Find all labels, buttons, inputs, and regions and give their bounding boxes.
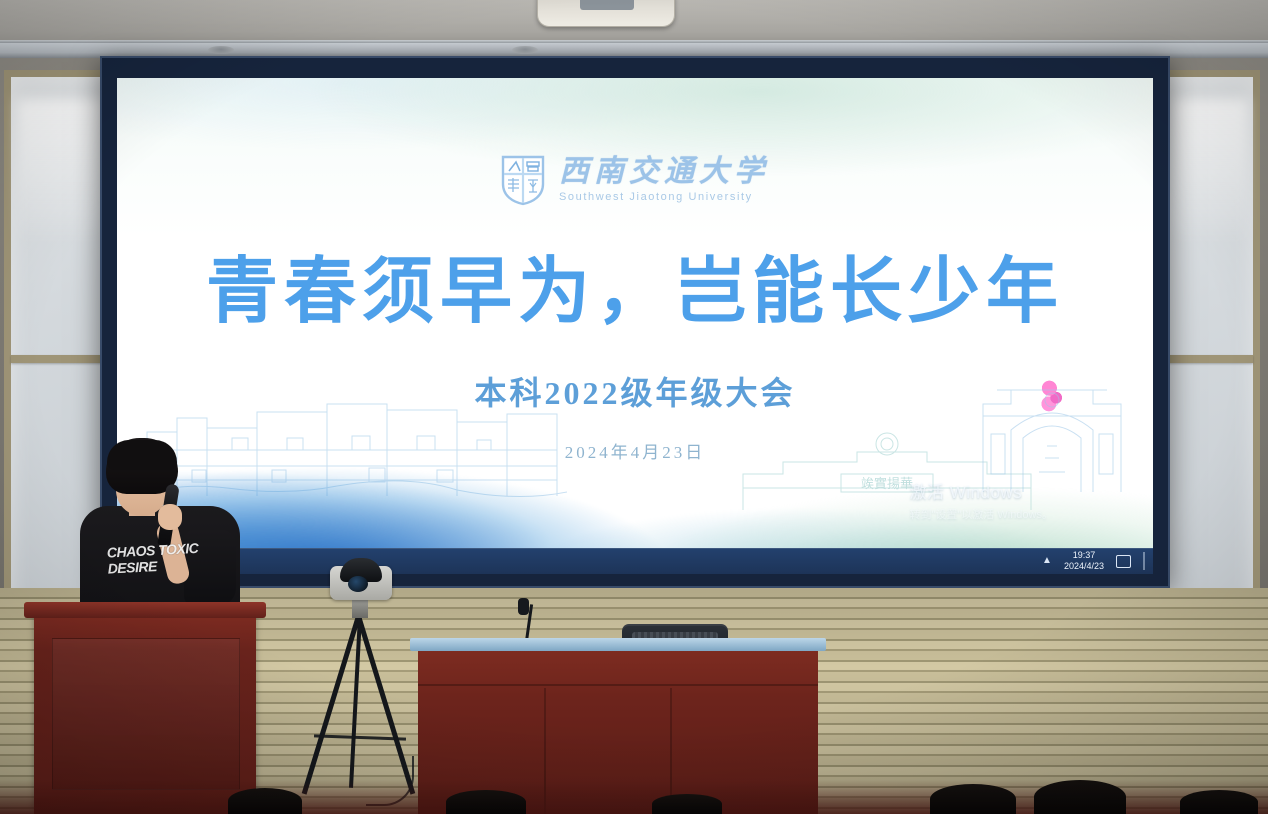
- whiteboard-glare-right: [1172, 99, 1248, 245]
- camera-lens-icon: [348, 576, 368, 592]
- whiteboard-glare-left: [17, 99, 105, 245]
- ceiling-seam: [0, 40, 1268, 43]
- university-shield-icon: [501, 154, 545, 206]
- auditorium-scene: 西南交通大学 Southwest Jiaotong University 青春须…: [0, 0, 1268, 814]
- projection-screen-frame: 西南交通大学 Southwest Jiaotong University 青春须…: [100, 56, 1170, 588]
- slide-date: 2024年4月23日: [117, 438, 1153, 463]
- ptz-camera-on-tripod: [292, 556, 424, 806]
- projection-screen[interactable]: 西南交通大学 Southwest Jiaotong University 青春须…: [117, 78, 1153, 574]
- taskbar-time: 19:37: [1064, 550, 1104, 561]
- audience-head: [1034, 780, 1126, 814]
- taskbar-clock[interactable]: 19:37 2024/4/23: [1064, 550, 1104, 572]
- speaker-hair-fringe: [107, 440, 177, 470]
- slide-subtitle: 本科2022级年级大会: [117, 368, 1153, 414]
- projector-lens: [580, 0, 634, 10]
- watercolor-ridge: [117, 460, 1153, 530]
- university-logo-text: 西南交通大学 Southwest Jiaotong University: [559, 157, 769, 203]
- watercolor-wash: [117, 424, 1153, 574]
- decorative-pink-mark-icon: [1039, 378, 1065, 412]
- table-top-edge: [410, 638, 826, 651]
- show-desktop-button[interactable]: [1143, 552, 1145, 570]
- ceiling-projector: [537, 0, 675, 27]
- podium-top-edge: [24, 602, 266, 618]
- chevron-up-icon[interactable]: ▲: [1042, 556, 1052, 566]
- whiteboard-rail-right: [1167, 355, 1253, 363]
- campus-gate-lineart-right: [977, 376, 1127, 496]
- camera-mount: [352, 600, 368, 618]
- slide-top-wash: [117, 78, 1153, 306]
- windows-activation-watermark: 激活 Windows 转到"设置"以激活 Windows。: [910, 483, 1054, 522]
- taskbar-tray[interactable]: ▲ 19:37 2024/4/23: [1042, 550, 1153, 572]
- audience-head: [930, 784, 1016, 814]
- whiteboard-panel-right: [1160, 70, 1260, 644]
- whiteboard-rail-left: [11, 355, 111, 363]
- audience-head: [446, 790, 526, 814]
- campus-archway-lineart: 竢實揚華: [737, 422, 1037, 512]
- audience-head: [228, 788, 302, 814]
- ceiling-vent-right: [512, 46, 538, 54]
- university-logo: 西南交通大学 Southwest Jiaotong University: [117, 154, 1153, 206]
- activation-line-1: 激活 Windows: [910, 483, 1054, 503]
- gate-sign-text: 竢實揚華: [861, 476, 913, 491]
- university-name-en: Southwest Jiaotong University: [559, 191, 753, 203]
- activation-line-2: 转到"设置"以激活 Windows。: [910, 506, 1054, 522]
- notification-square-icon[interactable]: [1116, 555, 1131, 568]
- podium-front-panel: [52, 638, 240, 790]
- taskbar-date: 2024/4/23: [1064, 561, 1104, 572]
- table-groove: [418, 684, 818, 686]
- gooseneck-microphone-head: [518, 598, 529, 615]
- audience-head: [652, 794, 722, 814]
- ceiling-vent-left: [208, 46, 234, 54]
- university-name-cn: 西南交通大学: [559, 157, 769, 187]
- speaker-shirt-text: CHAOS TOXIC DESIRE: [106, 539, 209, 606]
- slide-title: 青春须早为，岂能长少年: [117, 256, 1153, 328]
- slide-landscape-art: 竢實揚華: [117, 364, 1153, 574]
- watercolor-green: [552, 454, 1153, 574]
- speaker-hand: [158, 504, 182, 530]
- presentation-slide: 西南交通大学 Southwest Jiaotong University 青春须…: [117, 78, 1153, 574]
- windows-taskbar[interactable]: ▲ 19:37 2024/4/23: [117, 548, 1153, 574]
- audience-head: [1180, 790, 1258, 814]
